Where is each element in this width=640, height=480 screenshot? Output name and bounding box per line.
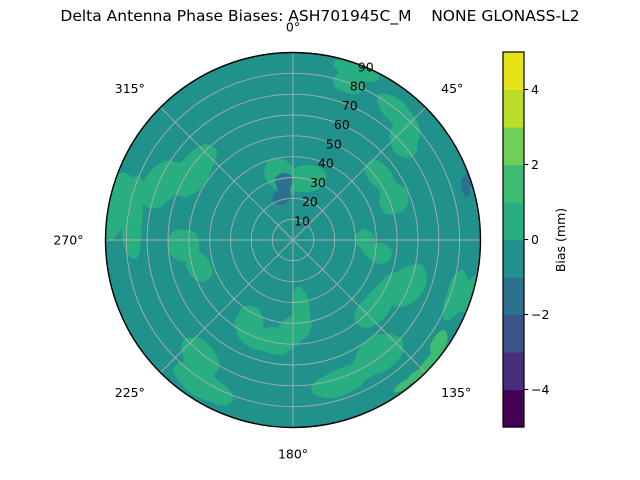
colorbar-tick-label: 2 (531, 157, 539, 172)
colorbar-tick-label: −2 (531, 307, 549, 322)
angular-tick-label: 315° (115, 81, 145, 96)
radial-tick-label: 50 (326, 136, 342, 151)
polar-axes: 102030405060708090 0°45°90135°180°225°27… (0, 0, 640, 480)
angular-tick-label: 45° (441, 81, 463, 96)
colorbar-tick-label: 4 (531, 82, 539, 97)
radial-tick-label: 80 (350, 79, 366, 94)
polar-grid (106, 53, 481, 428)
angular-tick-label: 225° (115, 385, 145, 400)
colorbar-band (503, 277, 524, 315)
colorbar[interactable] (503, 52, 524, 428)
matplotlib-figure: Delta Antenna Phase Biases: ASH701945C_M… (0, 0, 640, 480)
radial-tick-label: 90 (358, 59, 374, 74)
colorbar-tick-label: 0 (531, 232, 539, 247)
colorbar-band (503, 90, 524, 128)
colorbar-band (503, 52, 524, 90)
colorbar-tick-labels: −4−2024 (524, 82, 549, 397)
radial-tick-label: 40 (318, 156, 334, 171)
radial-tick-label: 60 (334, 117, 350, 132)
colorbar-band (503, 202, 524, 240)
colorbar-tick-label: −4 (531, 382, 549, 397)
angular-tick-label: 0° (286, 20, 300, 35)
radial-tick-label: 70 (342, 98, 358, 113)
colorbar-band (503, 240, 524, 278)
radial-tick-label: 20 (302, 194, 318, 209)
radial-tick-label: 30 (310, 175, 326, 190)
angular-tick-label: 135° (441, 385, 471, 400)
colorbar-band (503, 315, 524, 353)
radial-tick-label: 10 (294, 213, 310, 228)
angular-tick-label: 270° (53, 233, 83, 248)
colorbar-band (503, 390, 524, 428)
colorbar-band (503, 127, 524, 165)
colorbar-band (503, 352, 524, 390)
angular-tick-label: 180° (278, 447, 308, 462)
colorbar-band (503, 165, 524, 203)
